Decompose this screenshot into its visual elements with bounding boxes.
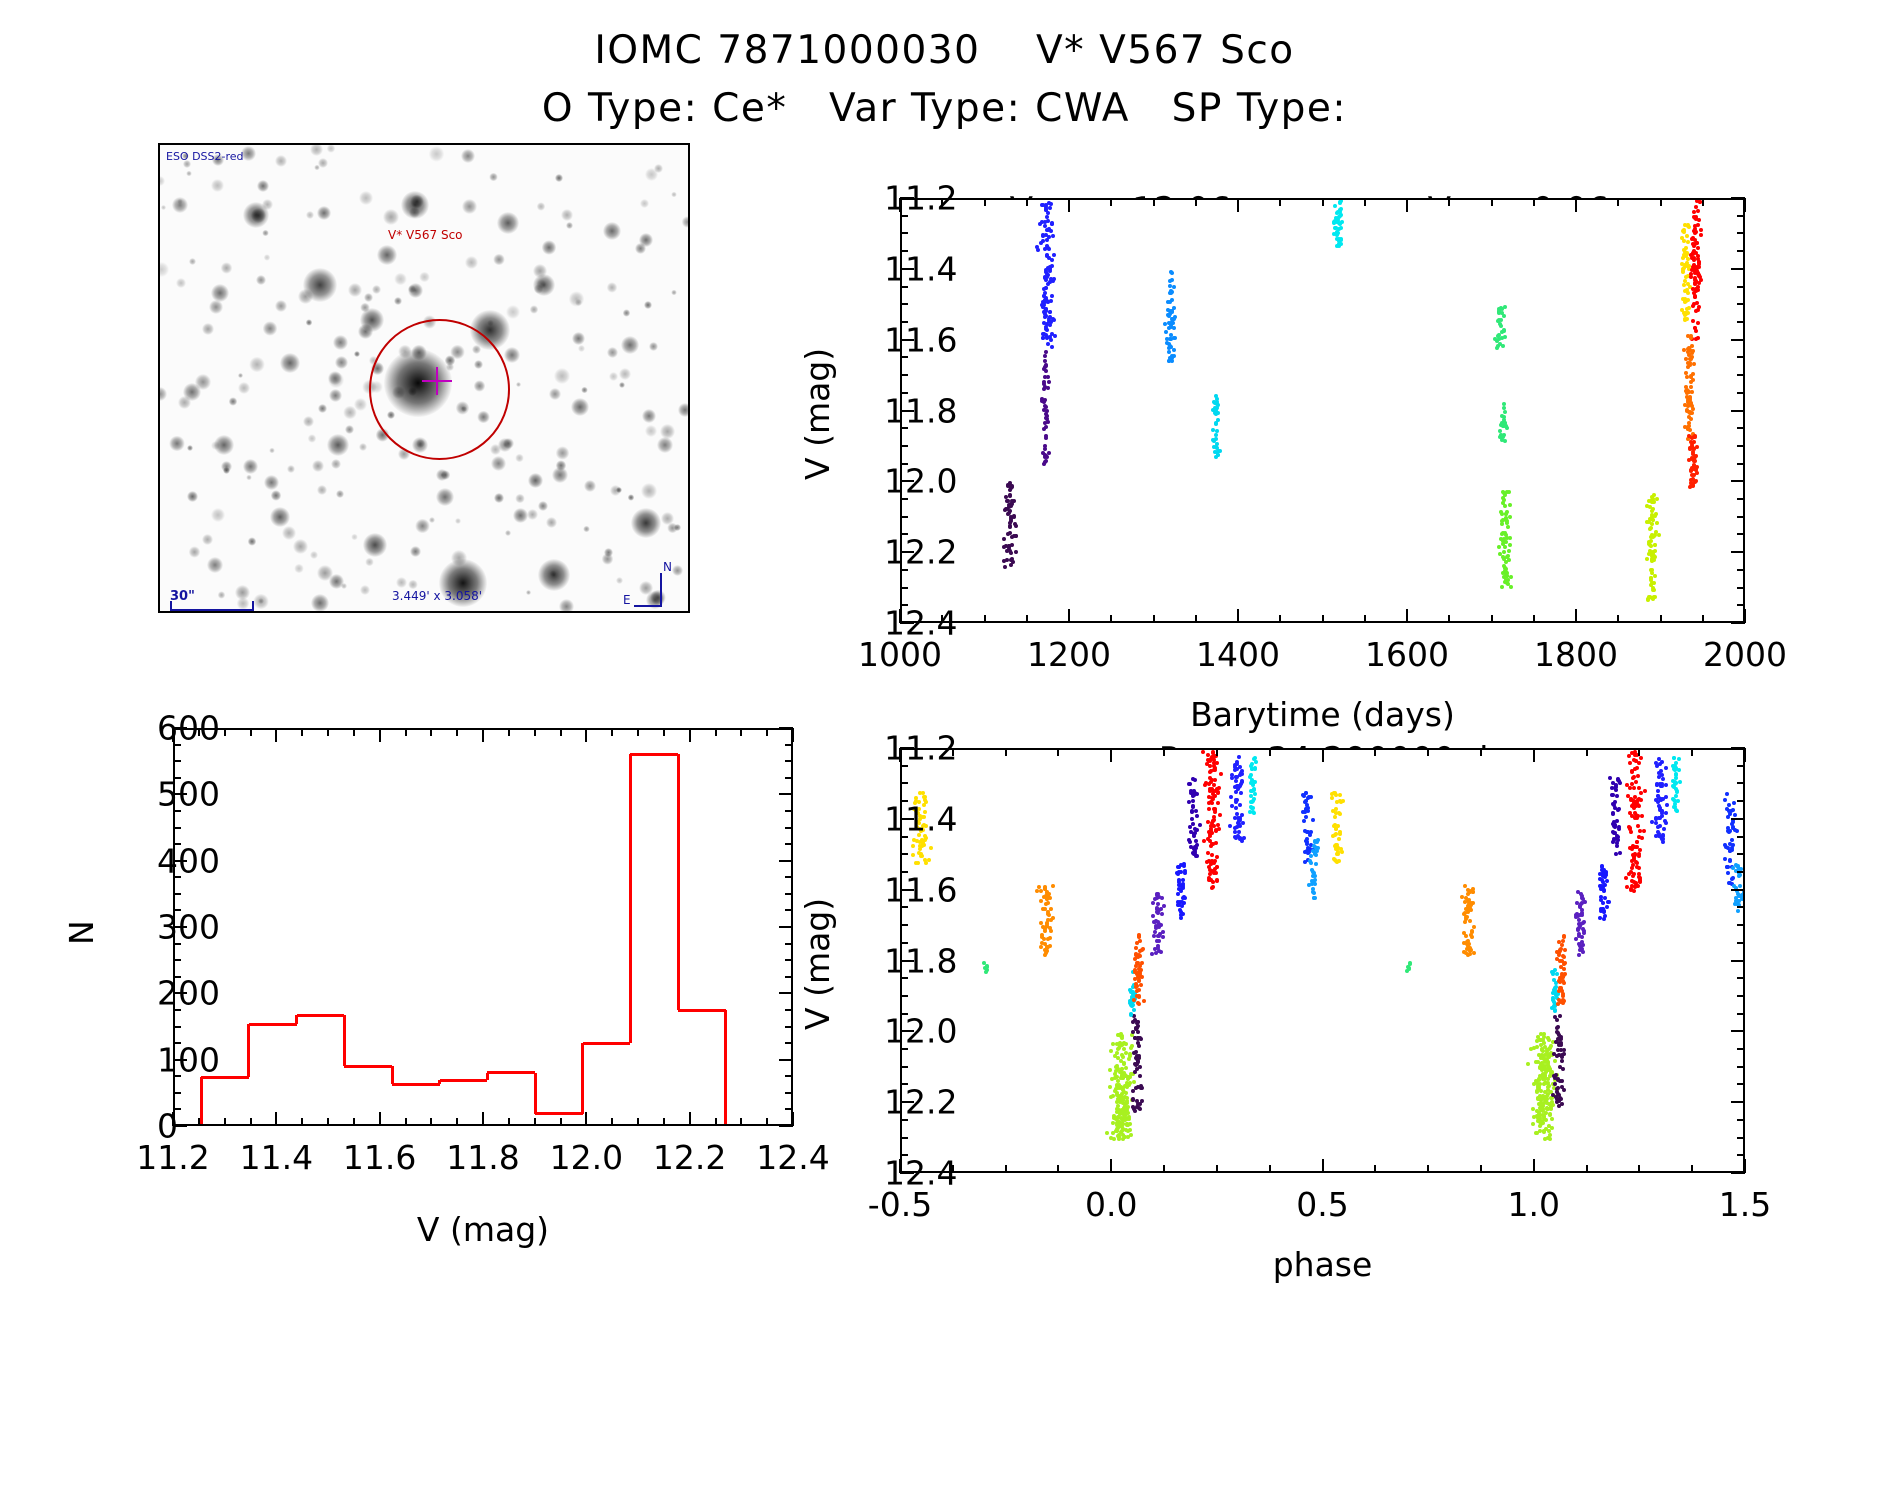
x-tick-label: 1600 [1365, 635, 1449, 674]
data-point [1649, 526, 1653, 530]
data-point [1330, 796, 1334, 800]
data-point [1154, 951, 1158, 955]
data-point [1691, 287, 1695, 291]
data-point [1509, 585, 1513, 589]
x-tick-minor [1374, 1165, 1376, 1173]
data-point [1234, 798, 1238, 802]
x-tick-label: 1800 [1534, 635, 1618, 674]
sky-star [497, 212, 519, 234]
data-point [1139, 1037, 1143, 1041]
data-point [1316, 838, 1320, 842]
data-point [1637, 804, 1641, 808]
x-tick-minor [1480, 1165, 1482, 1173]
data-point [1624, 876, 1628, 880]
y-tick-major-right [1731, 818, 1745, 820]
data-point [1728, 829, 1732, 833]
sky-star [189, 546, 201, 558]
data-point [1678, 780, 1682, 784]
target-aperture-circle [369, 319, 510, 460]
data-point [1634, 883, 1638, 887]
data-point [1131, 1089, 1135, 1093]
lightcurve-plot-area[interactable] [900, 198, 1745, 623]
sky-star [189, 258, 196, 265]
sky-star [419, 272, 429, 282]
y-tick-minor-right [1737, 1137, 1745, 1139]
sky-star [211, 508, 226, 523]
data-point [1578, 948, 1582, 952]
x-tick-minor [1005, 1165, 1007, 1173]
x-tick-minor [534, 1118, 536, 1126]
data-point [1249, 773, 1253, 777]
data-point [1632, 801, 1636, 805]
x-tick-label: 1.5 [1719, 1185, 1771, 1224]
data-point [1637, 786, 1641, 790]
data-point [1187, 800, 1191, 804]
sky-star [358, 324, 373, 339]
data-point [1615, 844, 1619, 848]
sky-star [282, 526, 296, 540]
lightcurve-ylabel: V (mag) [798, 348, 837, 480]
data-point [1008, 509, 1012, 513]
data-point [1686, 223, 1690, 227]
data-point [1173, 315, 1177, 319]
data-point [1647, 552, 1651, 556]
data-point [1684, 371, 1688, 375]
scale-bar-line [170, 609, 254, 611]
histogram-bar-top [440, 1079, 488, 1082]
data-point [1151, 914, 1155, 918]
data-point [1012, 514, 1016, 518]
data-point [1121, 1101, 1125, 1105]
x-tick-minor-top [1533, 198, 1535, 206]
x-tick-minor-top [1153, 198, 1155, 206]
sky-star [504, 347, 519, 362]
data-point [1686, 240, 1690, 244]
data-point [1195, 814, 1199, 818]
data-point [1546, 1063, 1550, 1067]
data-point [1688, 485, 1692, 489]
data-point [1216, 801, 1220, 805]
sky-star [298, 289, 313, 304]
data-point [1313, 896, 1317, 900]
sky-star [619, 382, 625, 388]
data-point [1664, 821, 1668, 825]
x-tick-minor-top [1660, 198, 1662, 206]
sky-star [538, 501, 548, 511]
data-point [1111, 1131, 1115, 1135]
y-tick-minor [173, 959, 181, 961]
compass-east-arrow [634, 605, 662, 607]
data-point [1336, 824, 1340, 828]
data-point [1696, 246, 1700, 250]
data-point [1497, 333, 1501, 337]
data-point [1211, 885, 1215, 889]
data-point [1560, 943, 1564, 947]
sky-star [335, 356, 348, 369]
data-point [1683, 289, 1687, 293]
y-tick-minor-right [1737, 1119, 1745, 1121]
data-point [1234, 806, 1238, 810]
data-point [1234, 836, 1238, 840]
data-point [1684, 312, 1688, 316]
y-tick-minor [900, 356, 908, 358]
data-point [1241, 821, 1245, 825]
data-point [1209, 769, 1213, 773]
data-point [1696, 321, 1700, 325]
x-tick-minor-top [1691, 748, 1693, 756]
data-point [1687, 458, 1691, 462]
sky-star [621, 336, 639, 354]
data-point [1210, 853, 1214, 857]
sky-star [506, 305, 520, 319]
x-tick-minor-top [663, 728, 665, 736]
sky-star [306, 211, 314, 219]
sky-star [257, 180, 269, 192]
data-point [1605, 879, 1609, 883]
data-point [1559, 1043, 1563, 1047]
x-tick-minor [740, 1118, 742, 1126]
data-point [1546, 1136, 1550, 1140]
scale-bar-tick-right [252, 601, 254, 611]
data-point [1643, 789, 1647, 793]
x-tick-minor [560, 1118, 562, 1126]
data-point [1207, 876, 1211, 880]
y-tick-minor [900, 853, 908, 855]
y-tick-minor-right [1737, 356, 1745, 358]
data-point [1657, 771, 1661, 775]
data-point [1576, 927, 1580, 931]
data-point [1014, 534, 1018, 538]
data-point [1135, 1062, 1139, 1066]
title-line-2: O Type: Ce* Var Type: CWA SP Type: [0, 80, 1889, 138]
x-tick-minor-top [353, 728, 355, 736]
y-tick-minor [900, 445, 908, 447]
data-point [1557, 1104, 1561, 1108]
sky-star [359, 443, 367, 451]
data-point [923, 858, 927, 862]
sky-star [657, 437, 673, 453]
data-point [1338, 812, 1342, 816]
histogram-bar-edge [677, 754, 680, 1010]
data-point [1605, 905, 1609, 909]
x-tick-minor-top [1702, 198, 1704, 206]
data-point [1563, 948, 1567, 952]
sky-star [331, 459, 341, 469]
y-tick-minor [173, 943, 181, 945]
data-point [1135, 1099, 1139, 1103]
phaseplot-plot-area[interactable] [900, 748, 1745, 1173]
x-tick-minor [1638, 1165, 1640, 1173]
data-point [1151, 901, 1155, 905]
data-point [1636, 824, 1640, 828]
data-point [1655, 497, 1659, 501]
scale-bar-tick-left [170, 601, 172, 611]
data-point [1333, 204, 1337, 208]
data-point [1689, 334, 1693, 338]
y-tick-minor [900, 924, 908, 926]
data-point [1179, 889, 1183, 893]
data-point [1181, 884, 1185, 888]
data-point [1632, 786, 1636, 790]
y-tick-minor [173, 876, 181, 878]
data-point [1555, 1090, 1559, 1094]
data-point [1237, 755, 1241, 759]
sky-star [360, 585, 370, 595]
sky-star [609, 372, 618, 381]
y-tick-minor [900, 374, 908, 376]
sky-star [359, 191, 373, 205]
data-point [1191, 804, 1195, 808]
data-point [1502, 402, 1506, 406]
data-point [1049, 338, 1053, 342]
data-point [1500, 585, 1504, 589]
sky-star [246, 475, 251, 480]
x-tick-minor [1691, 1165, 1693, 1173]
data-point [1470, 929, 1474, 933]
data-point [1502, 557, 1506, 561]
data-point [1129, 1012, 1133, 1016]
data-point [1604, 873, 1608, 877]
data-point [1723, 857, 1727, 861]
sky-star [408, 580, 418, 590]
data-point [1133, 1109, 1137, 1113]
data-point [1136, 1030, 1140, 1034]
data-point [1339, 242, 1343, 246]
data-point [1302, 819, 1306, 823]
data-point [1550, 1117, 1554, 1121]
data-point [1696, 285, 1700, 289]
x-tick-minor [1448, 615, 1450, 623]
data-point [1045, 949, 1049, 953]
y-tick-minor [173, 827, 181, 829]
data-point [1044, 286, 1048, 290]
data-point [922, 843, 926, 847]
data-point [1169, 291, 1173, 295]
data-point [1336, 850, 1340, 854]
sky-survey-image[interactable]: ESO DSS2-red V* V567 Sco 30" 3.449' x 3.… [158, 143, 690, 613]
y-tick-minor [173, 1009, 181, 1011]
sky-star [409, 207, 419, 217]
data-point [985, 964, 989, 968]
data-point [1468, 949, 1472, 953]
data-point [1156, 902, 1160, 906]
data-point [1044, 278, 1048, 282]
data-point [1686, 298, 1690, 302]
data-point [1303, 860, 1307, 864]
sky-star [494, 493, 503, 502]
data-point [1181, 878, 1185, 882]
y-tick-minor-right [1737, 836, 1745, 838]
x-tick-major [482, 1112, 484, 1126]
sky-star [549, 388, 561, 400]
data-point [1125, 1085, 1129, 1089]
data-point [1636, 774, 1640, 778]
data-point [1051, 884, 1055, 888]
data-point [1168, 284, 1172, 288]
data-point [1508, 503, 1512, 507]
sky-star [317, 565, 333, 581]
sky-star [429, 146, 444, 161]
y-tick-minor-right [1737, 782, 1745, 784]
sky-star [354, 351, 359, 356]
sky-star [623, 309, 630, 316]
data-point [1686, 398, 1690, 402]
sky-star [264, 475, 279, 490]
x-tick-minor-top [456, 728, 458, 736]
x-tick-label: 11.6 [343, 1138, 416, 1177]
y-tick-minor-right [1737, 871, 1745, 873]
data-point [1008, 488, 1012, 492]
data-point [1665, 803, 1669, 807]
sky-star [583, 526, 590, 533]
data-point [1601, 901, 1605, 905]
data-point [1043, 421, 1047, 425]
data-point [1659, 835, 1663, 839]
data-point [1338, 214, 1342, 218]
data-point [1501, 501, 1505, 505]
data-point [1215, 855, 1219, 859]
data-point [1656, 789, 1660, 793]
data-point [1207, 859, 1211, 863]
y-tick-minor-right [1737, 906, 1745, 908]
data-point [1238, 803, 1242, 807]
data-point [1242, 836, 1246, 840]
sky-star [383, 209, 399, 225]
sky-star [211, 284, 229, 302]
histogram-plot-area[interactable] [173, 728, 793, 1126]
data-point [1129, 1133, 1133, 1137]
data-point [1214, 871, 1218, 875]
data-point [1044, 434, 1048, 438]
data-point [1201, 750, 1205, 754]
target-crosshair-v [436, 367, 438, 395]
y-tick-minor-right [1737, 569, 1745, 571]
sky-star [160, 387, 167, 402]
data-point [1212, 783, 1216, 787]
data-point [1203, 783, 1207, 787]
data-point [1736, 909, 1740, 913]
data-point [1579, 902, 1583, 906]
sky-star [571, 398, 589, 416]
sky-star [607, 282, 618, 293]
data-point [1050, 332, 1054, 336]
x-tick-major [1744, 609, 1746, 623]
sky-star [365, 558, 373, 566]
data-point [1135, 989, 1139, 993]
data-point [1735, 829, 1739, 833]
data-point [1505, 521, 1509, 525]
data-point [1233, 830, 1237, 834]
y-tick-minor [173, 1092, 181, 1094]
data-point [1110, 1077, 1114, 1081]
y-tick-minor [900, 427, 908, 429]
data-point [1334, 793, 1338, 797]
data-point [1215, 761, 1219, 765]
data-point [1601, 880, 1605, 884]
data-point [1314, 853, 1318, 857]
sky-star [441, 470, 450, 479]
data-point [1561, 975, 1565, 979]
data-point [1738, 884, 1742, 888]
data-point [1650, 495, 1654, 499]
data-point [1661, 777, 1665, 781]
data-point [1039, 899, 1043, 903]
data-point [1600, 865, 1604, 869]
data-point [1150, 952, 1154, 956]
data-point [1682, 283, 1686, 287]
data-point [1183, 869, 1187, 873]
x-tick-minor-top [1427, 748, 1429, 756]
survey-label: ESO DSS2-red [166, 150, 244, 163]
x-tick-minor [1427, 1165, 1429, 1173]
data-point [1505, 574, 1509, 578]
sky-star [280, 353, 300, 373]
sky-star [415, 519, 430, 534]
x-tick-major-top [1744, 748, 1746, 762]
x-tick-minor [984, 615, 986, 623]
y-tick-minor [900, 569, 908, 571]
data-point [1628, 826, 1632, 830]
data-point [1235, 762, 1239, 766]
histogram-bar-top [583, 1042, 631, 1045]
data-point [1696, 308, 1700, 312]
sky-star [336, 490, 344, 498]
data-point [1042, 380, 1046, 384]
data-point [1157, 939, 1161, 943]
sky-star [270, 507, 290, 527]
x-tick-minor-top [1586, 748, 1588, 756]
sky-star [187, 445, 193, 451]
data-point [1010, 484, 1014, 488]
data-point [1036, 248, 1040, 252]
sky-star [275, 155, 287, 167]
data-point [1507, 558, 1511, 562]
data-point [1214, 433, 1218, 437]
data-point [1691, 304, 1695, 308]
x-tick-minor [353, 1118, 355, 1126]
x-tick-minor [1491, 615, 1493, 623]
data-point [1535, 1045, 1539, 1049]
x-tick-label: 11.8 [446, 1138, 519, 1177]
x-tick-minor-top [1026, 198, 1028, 206]
data-point [1239, 791, 1243, 795]
data-point [1049, 277, 1053, 281]
data-point [1212, 439, 1216, 443]
x-tick-minor-top [1163, 748, 1165, 756]
y-tick-minor [900, 516, 908, 518]
data-point [1696, 209, 1700, 213]
data-point [1728, 859, 1732, 863]
data-point [1192, 852, 1196, 856]
data-point [1650, 571, 1654, 575]
y-tick-minor [173, 1026, 181, 1028]
sky-star [639, 581, 653, 595]
x-tick-minor-top [405, 728, 407, 736]
data-point [1660, 760, 1664, 764]
data-point [1635, 861, 1639, 865]
data-point [1124, 1066, 1128, 1070]
sky-star [503, 438, 514, 449]
lightcurve-panel: Vmed = 12.06 mag <err_V> = 0.06 mag 1000… [760, 150, 1880, 670]
x-tick-major [1744, 1159, 1746, 1173]
sky-star [264, 254, 271, 261]
x-tick-minor [1322, 615, 1324, 623]
data-point [1629, 830, 1633, 834]
data-point [1655, 521, 1659, 525]
x-tick-major-top [1110, 748, 1112, 762]
data-point [1212, 815, 1216, 819]
data-point [1046, 211, 1050, 215]
